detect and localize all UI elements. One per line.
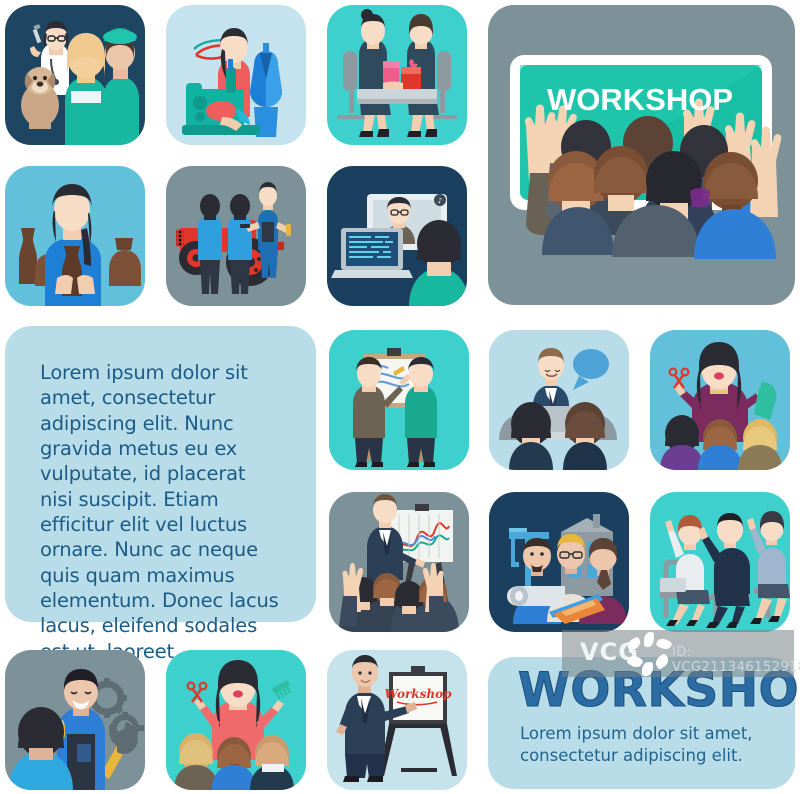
art-class-illustration xyxy=(329,330,469,470)
hairdressing-illustration xyxy=(650,330,790,470)
tile-sewing[interactable] xyxy=(166,5,306,145)
tile-mechanics[interactable] xyxy=(166,166,306,306)
tile-architects[interactable] xyxy=(489,492,629,632)
tractor-training-illustration xyxy=(166,166,306,306)
easel-sign-text: Workshop xyxy=(384,687,452,701)
interview-illustration xyxy=(489,330,629,470)
seminar-chart-illustration xyxy=(329,492,469,632)
tile-beauty[interactable] xyxy=(166,650,306,790)
icon-set-canvas: WORKSHOP xyxy=(0,0,800,794)
webinar-illustration: ♪ xyxy=(327,166,467,306)
architects-illustration xyxy=(489,492,629,632)
tile-pottery[interactable] xyxy=(5,166,145,306)
workshop-footer-panel: WORKSHOP Lorem ipsum dolor sit amet, con… xyxy=(488,657,795,789)
tile-art-class[interactable] xyxy=(329,330,469,470)
lorem-text-panel: Lorem ipsum dolor sit amet, consectetur … xyxy=(5,326,316,622)
sewing-illustration xyxy=(166,5,306,145)
tile-hairdressing[interactable] xyxy=(650,330,790,470)
presenter-illustration: Workshop xyxy=(327,650,467,790)
classroom-illustration xyxy=(650,492,790,632)
beauty-class-illustration xyxy=(166,650,306,790)
hero-board-text: WORKSHOP xyxy=(547,82,733,117)
tile-seminar-chart[interactable] xyxy=(329,492,469,632)
tile-presenter[interactable]: Workshop xyxy=(327,650,467,790)
tile-online-webinar[interactable]: ♪ xyxy=(327,166,467,306)
tile-veterinary[interactable] xyxy=(5,5,145,145)
repair-illustration xyxy=(5,650,145,790)
workshop-hero-banner[interactable]: WORKSHOP xyxy=(488,5,795,305)
meeting-illustration xyxy=(327,5,467,145)
pottery-illustration xyxy=(5,166,145,306)
workshop-footer-heading: WORKSHOP xyxy=(518,663,800,718)
tile-classroom[interactable] xyxy=(650,492,790,632)
tile-interview[interactable] xyxy=(489,330,629,470)
hero-audience-illustration: WORKSHOP xyxy=(488,5,795,305)
tile-business-meeting[interactable] xyxy=(327,5,467,145)
lorem-text: Lorem ipsum dolor sit amet, consectetur … xyxy=(40,360,282,689)
tile-repair[interactable] xyxy=(5,650,145,790)
veterinary-illustration xyxy=(5,5,145,145)
workshop-footer-subtitle: Lorem ipsum dolor sit amet, consectetur … xyxy=(520,723,772,768)
svg-text:♪: ♪ xyxy=(438,197,442,205)
